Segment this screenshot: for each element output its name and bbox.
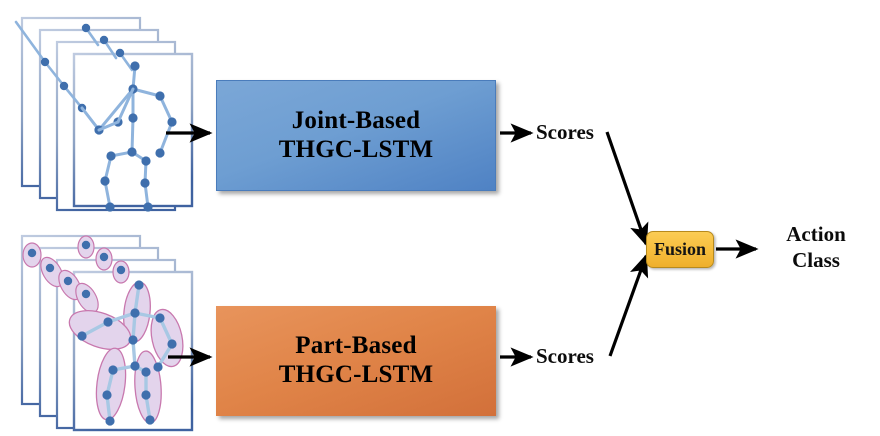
joint-skeleton-frame-stack [16, 18, 192, 212]
diagram-canvas: Joint-Based THGC-LSTM Part-Based THGC-LS… [0, 0, 880, 436]
part-stream-box-line1: Part-Based [295, 332, 416, 361]
part-stream-box-line2: THGC-LSTM [279, 361, 434, 390]
scores-label-bottom: Scores [536, 344, 594, 369]
scores-label-top: Scores [536, 120, 594, 145]
fusion-box[interactable]: Fusion [646, 231, 714, 268]
part-stream-box[interactable]: Part-Based THGC-LSTM [216, 306, 496, 416]
action-class-line1: Action [768, 221, 864, 247]
action-class-line2: Class [768, 247, 864, 273]
arrow-scores-bottom-to-fusion [610, 256, 646, 356]
joint-stream-box-line1: Joint-Based [292, 107, 421, 136]
action-class-output: Action Class [768, 221, 864, 274]
arrow-scores-top-to-fusion [607, 132, 646, 244]
fusion-box-label: Fusion [654, 239, 706, 260]
joint-stream-box[interactable]: Joint-Based THGC-LSTM [216, 80, 496, 191]
part-skeleton-frame-stack [22, 236, 192, 430]
joint-stream-box-line2: THGC-LSTM [279, 136, 434, 165]
